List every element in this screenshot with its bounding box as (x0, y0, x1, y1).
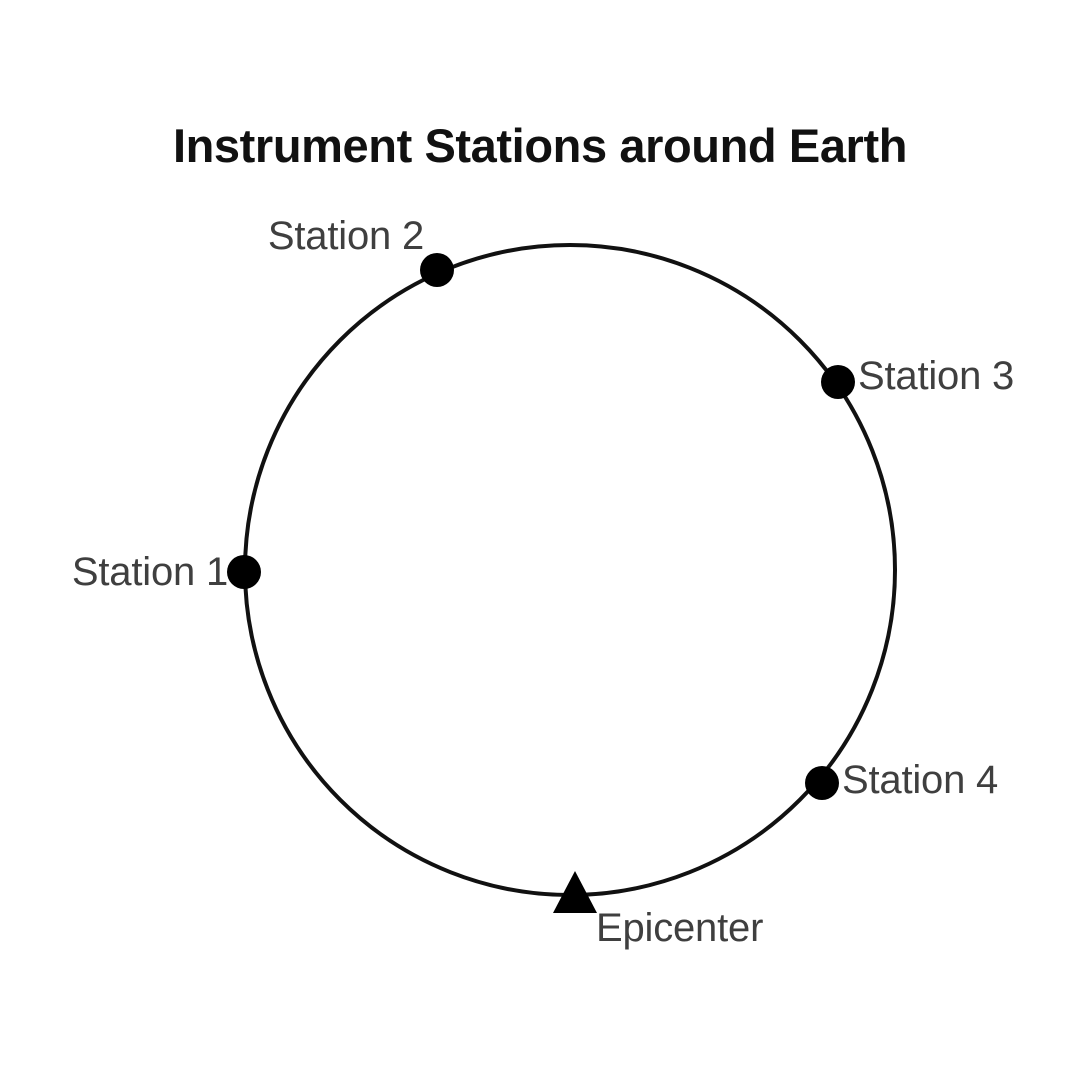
station-4-marker[interactable] (805, 766, 839, 800)
station-2-label: Station 2 (268, 216, 424, 256)
earth-circle (245, 245, 895, 895)
station-1-label: Station 1 (72, 552, 228, 592)
epicenter-marker[interactable] (553, 871, 597, 913)
seismic-station-diagram: Instrument Stations around Earth Station… (0, 0, 1080, 1080)
station-1-marker[interactable] (227, 555, 261, 589)
station-2-marker[interactable] (420, 253, 454, 287)
station-4-label: Station 4 (842, 760, 998, 800)
epicenter-label: Epicenter (596, 908, 763, 948)
station-3-label: Station 3 (858, 356, 1014, 396)
marker-layer (227, 253, 855, 913)
station-3-marker[interactable] (821, 365, 855, 399)
earth-diagram-canvas (0, 0, 1080, 1080)
